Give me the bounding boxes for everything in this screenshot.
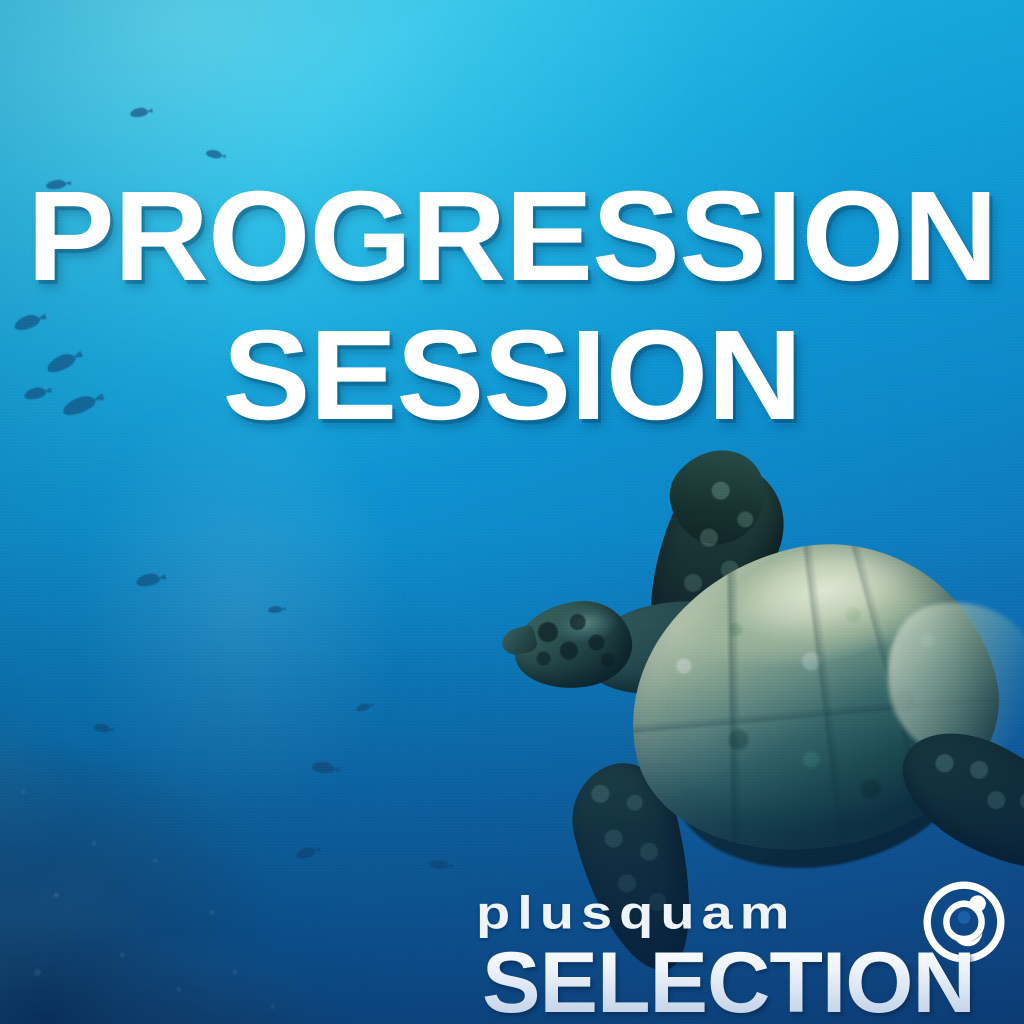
film-grain-overlay — [0, 0, 1024, 1024]
album-cover-artwork: PROGRESSION SESSION plusquam SELECT — [0, 0, 1024, 1024]
